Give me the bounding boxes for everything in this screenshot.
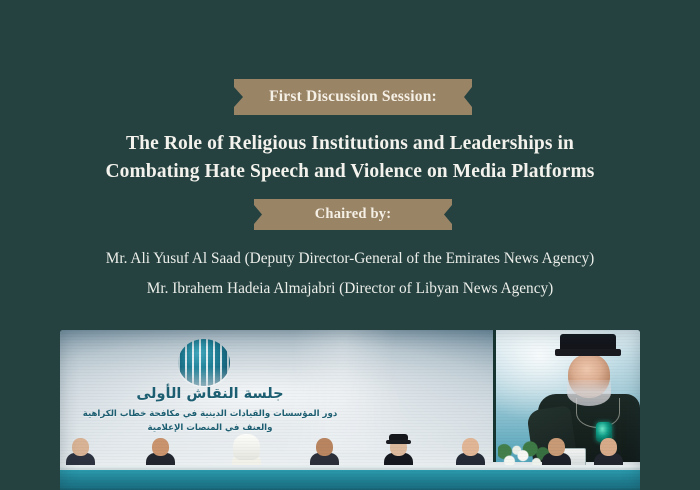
- chair-name-2: Mr. Ibrahem Hadeia Almajabri (Director o…: [0, 274, 700, 304]
- speaker-kalimavkion-hat: [560, 334, 616, 354]
- chair-list: Mr. Ali Yusuf Al Saad (Deputy Director-G…: [0, 244, 700, 304]
- slide-page: First Discussion Session: The Role of Re…: [0, 0, 700, 490]
- conference-logo-emblem-icon: [178, 339, 230, 386]
- chaired-by-ribbon: Chaired by:: [254, 199, 452, 230]
- chair-name-1: Mr. Ali Yusuf Al Saad (Deputy Director-G…: [0, 244, 700, 274]
- stage-desk: [60, 470, 640, 490]
- session-ribbon: First Discussion Session:: [234, 79, 472, 115]
- page-title: The Role of Religious Institutions and L…: [0, 130, 700, 185]
- speaker-beard: [567, 380, 611, 406]
- slide-arabic-title: جلسة النقاش الأولى: [60, 386, 360, 402]
- session-photo: جلسة النقاش الأولى دور المؤسسات والقيادا…: [60, 330, 640, 490]
- chaired-by-ribbon-label: Chaired by:: [315, 206, 391, 223]
- slide-arabic-subtitle-line-1: دور المؤسسات والقيادات الدينية في مكافحة…: [70, 408, 350, 422]
- page-title-line-2: Combating Hate Speech and Violence on Me…: [0, 158, 700, 186]
- session-ribbon-label: First Discussion Session:: [269, 88, 437, 106]
- page-title-line-1: The Role of Religious Institutions and L…: [0, 130, 700, 158]
